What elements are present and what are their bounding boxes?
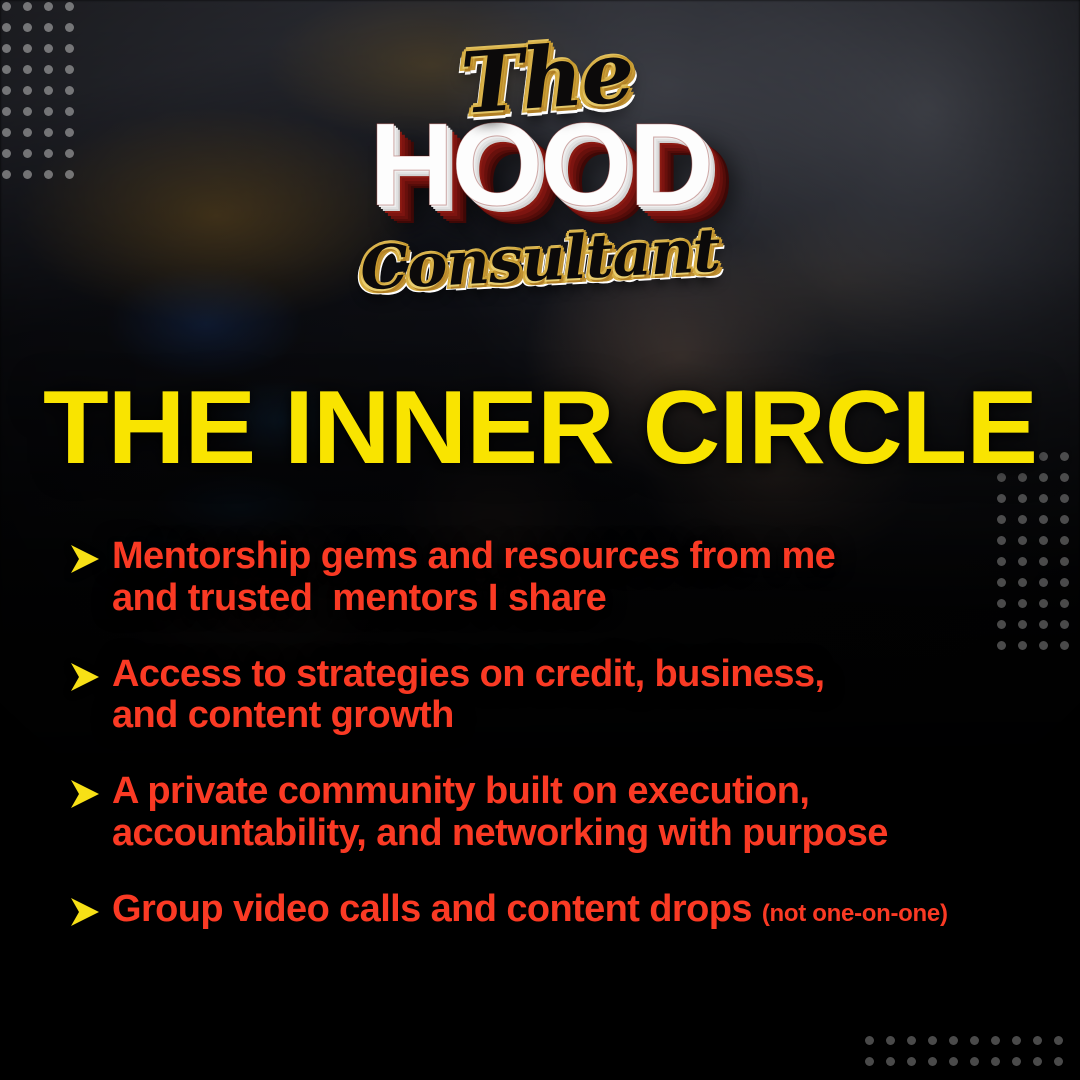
pattern-dot bbox=[1039, 599, 1048, 608]
list-item-note: (not one-on-one) bbox=[762, 900, 948, 927]
pattern-dot bbox=[928, 1036, 937, 1045]
pattern-dot bbox=[1060, 494, 1069, 503]
pattern-dot bbox=[970, 1036, 979, 1045]
pattern-dot bbox=[1039, 557, 1048, 566]
pattern-dot bbox=[949, 1057, 958, 1066]
logo-word-the: The bbox=[459, 30, 635, 126]
pattern-dot bbox=[997, 494, 1006, 503]
pattern-dot bbox=[907, 1036, 916, 1045]
pattern-dot bbox=[44, 2, 53, 11]
pattern-dot bbox=[1033, 1036, 1042, 1045]
list-item-label: A private community built on execution, … bbox=[112, 771, 888, 855]
list-item: Group video calls and content drops (not… bbox=[68, 889, 1028, 931]
promo-poster: HOOD The Consultant THE INNER CIRCLE Men… bbox=[0, 0, 1080, 1080]
pattern-dot bbox=[1033, 1057, 1042, 1066]
pattern-dot bbox=[65, 2, 74, 11]
pattern-dot bbox=[949, 1036, 958, 1045]
pattern-dot bbox=[2, 23, 11, 32]
pattern-dot bbox=[1060, 578, 1069, 587]
pattern-dot bbox=[1012, 1036, 1021, 1045]
list-item: Access to strategies on credit, business… bbox=[68, 654, 1028, 738]
pattern-dot bbox=[991, 1057, 1000, 1066]
pattern-dot bbox=[1012, 1057, 1021, 1066]
chevron-right-icon bbox=[68, 654, 102, 692]
benefits-list: Mentorship gems and resources from me an… bbox=[68, 536, 1028, 965]
pattern-dot bbox=[1054, 1057, 1063, 1066]
pattern-dot bbox=[1060, 599, 1069, 608]
pattern-dot bbox=[23, 2, 32, 11]
dot-pattern-bottom-right bbox=[865, 1036, 1075, 1078]
brand-logo: HOOD The Consultant bbox=[0, 34, 1080, 314]
pattern-dot bbox=[44, 23, 53, 32]
pattern-dot bbox=[23, 23, 32, 32]
pattern-dot bbox=[1039, 494, 1048, 503]
pattern-dot bbox=[1018, 515, 1027, 524]
pattern-dot bbox=[886, 1057, 895, 1066]
list-item-label: Group video calls and content drops (not… bbox=[112, 889, 948, 931]
chevron-right-icon bbox=[68, 536, 102, 574]
pattern-dot bbox=[991, 1036, 1000, 1045]
logo-word-consultant: Consultant bbox=[359, 221, 721, 300]
pattern-dot bbox=[865, 1036, 874, 1045]
pattern-dot bbox=[997, 515, 1006, 524]
list-item-label: Mentorship gems and resources from me an… bbox=[112, 536, 835, 620]
pattern-dot bbox=[1060, 557, 1069, 566]
pattern-dot bbox=[970, 1057, 979, 1066]
pattern-dot bbox=[865, 1057, 874, 1066]
chevron-right-icon bbox=[68, 771, 102, 809]
pattern-dot bbox=[1039, 578, 1048, 587]
list-item: Mentorship gems and resources from me an… bbox=[68, 536, 1028, 620]
pattern-dot bbox=[1060, 641, 1069, 650]
pattern-dot bbox=[1060, 620, 1069, 629]
page-title: THE INNER CIRCLE bbox=[0, 376, 1080, 480]
chevron-right-icon bbox=[68, 889, 102, 927]
pattern-dot bbox=[928, 1057, 937, 1066]
pattern-dot bbox=[1039, 620, 1048, 629]
pattern-dot bbox=[1039, 515, 1048, 524]
pattern-dot bbox=[1060, 536, 1069, 545]
pattern-dot bbox=[1039, 641, 1048, 650]
pattern-dot bbox=[907, 1057, 916, 1066]
list-item-label: Access to strategies on credit, business… bbox=[112, 654, 824, 738]
list-item: A private community built on execution, … bbox=[68, 771, 1028, 855]
pattern-dot bbox=[1039, 536, 1048, 545]
pattern-dot bbox=[1054, 1036, 1063, 1045]
pattern-dot bbox=[1018, 494, 1027, 503]
pattern-dot bbox=[886, 1036, 895, 1045]
pattern-dot bbox=[65, 23, 74, 32]
pattern-dot bbox=[1060, 515, 1069, 524]
pattern-dot bbox=[2, 2, 11, 11]
